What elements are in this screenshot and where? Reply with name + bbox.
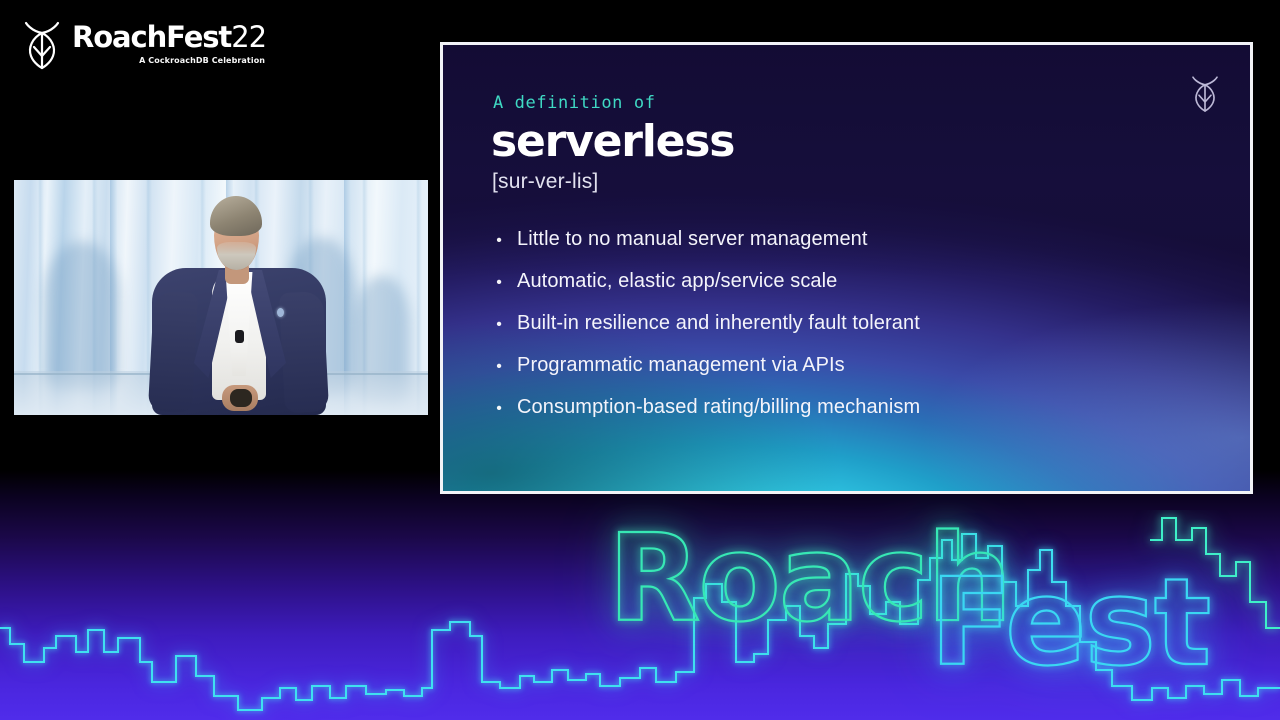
bullet-text: Automatic, elastic app/service scale <box>517 270 837 292</box>
slide-content: A definition of serverless [sur-ver-lis]… <box>443 45 1250 491</box>
list-item: • Programmatic management via APIs <box>495 354 1250 376</box>
video-background-silhouette <box>44 242 120 392</box>
slide-bullet-list: • Little to no manual server management … <box>489 228 1250 418</box>
event-tagline: A CockroachDB Celebration <box>139 57 265 65</box>
stage-backdrop <box>0 470 1280 720</box>
cockroach-labs-roach-icon <box>22 18 62 70</box>
speaker-held-object <box>230 389 252 407</box>
speaker-video-feed <box>14 180 428 415</box>
bullet-marker-icon: • <box>495 233 503 249</box>
event-wordmark-name: RoachFest <box>72 20 231 54</box>
event-wordmark-year: 22 <box>231 20 266 54</box>
bullet-text: Built-in resilience and inherently fault… <box>517 312 920 334</box>
speaker-left-arm <box>148 291 198 413</box>
bullet-marker-icon: • <box>495 359 503 375</box>
list-item: • Consumption-based rating/billing mecha… <box>495 396 1250 418</box>
bullet-marker-icon: • <box>495 401 503 417</box>
bullet-text: Programmatic management via APIs <box>517 354 845 376</box>
city-skyline-outline-icon <box>0 510 1280 720</box>
speaker-lavalier-mic-icon <box>235 330 244 343</box>
speaker-right-arm <box>279 291 329 413</box>
bullet-text: Consumption-based rating/billing mechani… <box>517 396 920 418</box>
broadcast-stage: Roach Fest RoachFest22 A CockroachDB Cel… <box>0 0 1280 720</box>
list-item: • Automatic, elastic app/service scale <box>495 270 1250 292</box>
event-logo: RoachFest22 A CockroachDB Celebration <box>22 18 266 70</box>
bullet-marker-icon: • <box>495 275 503 291</box>
list-item: • Little to no manual server management <box>495 228 1250 250</box>
presentation-slide: A definition of serverless [sur-ver-lis]… <box>440 42 1253 494</box>
list-item: • Built-in resilience and inherently fau… <box>495 312 1250 334</box>
bullet-marker-icon: • <box>495 317 503 333</box>
event-wordmark: RoachFest22 <box>72 23 266 52</box>
slide-pronunciation: [sur-ver-lis] <box>492 170 1250 194</box>
event-logo-text: RoachFest22 A CockroachDB Celebration <box>72 23 266 65</box>
slide-kicker: A definition of <box>493 93 1250 113</box>
speaker-lapel-pin <box>277 308 284 317</box>
slide-title: serverless <box>491 119 1250 166</box>
bullet-text: Little to no manual server management <box>517 228 868 250</box>
